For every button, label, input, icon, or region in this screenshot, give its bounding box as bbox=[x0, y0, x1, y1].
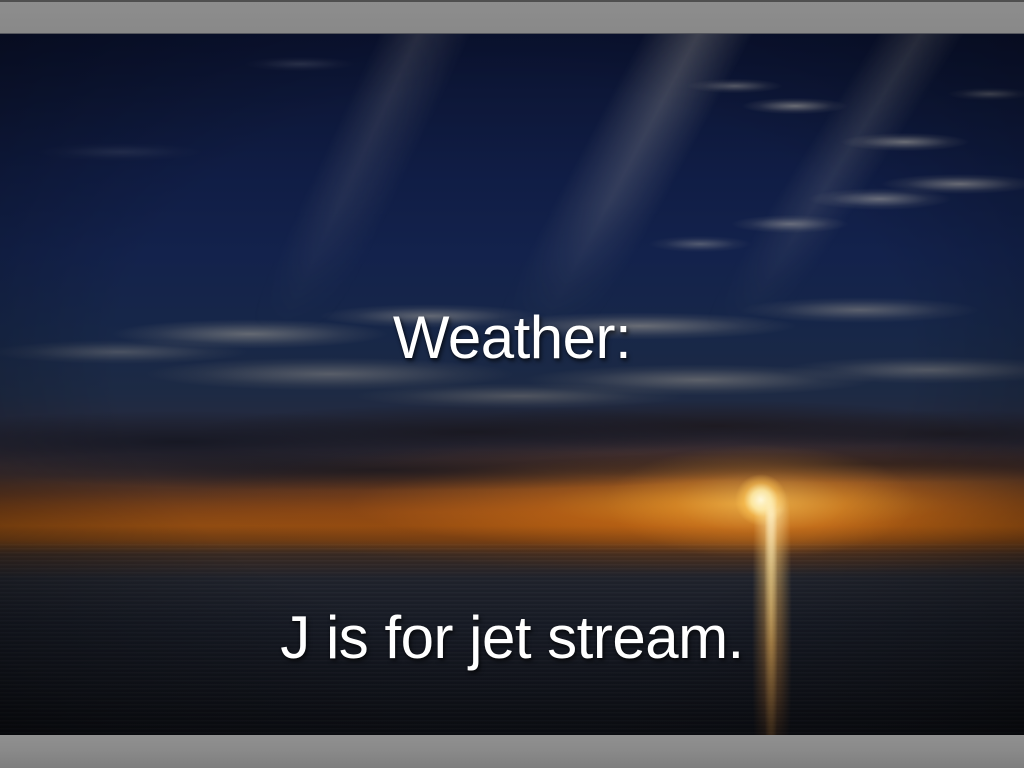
slide-frame: Weather: J is for jet stream. A jet stre… bbox=[0, 0, 1024, 768]
slide-text-block: Weather: J is for jet stream. A jet stre… bbox=[0, 88, 1024, 735]
frame-top-band bbox=[0, 2, 1024, 33]
slide-text-line-title: Weather: bbox=[0, 288, 1024, 388]
slide-text-line-subtitle: J is for jet stream. bbox=[0, 588, 1024, 688]
frame-bottom-band bbox=[0, 735, 1024, 768]
slide-canvas: Weather: J is for jet stream. A jet stre… bbox=[0, 34, 1024, 735]
